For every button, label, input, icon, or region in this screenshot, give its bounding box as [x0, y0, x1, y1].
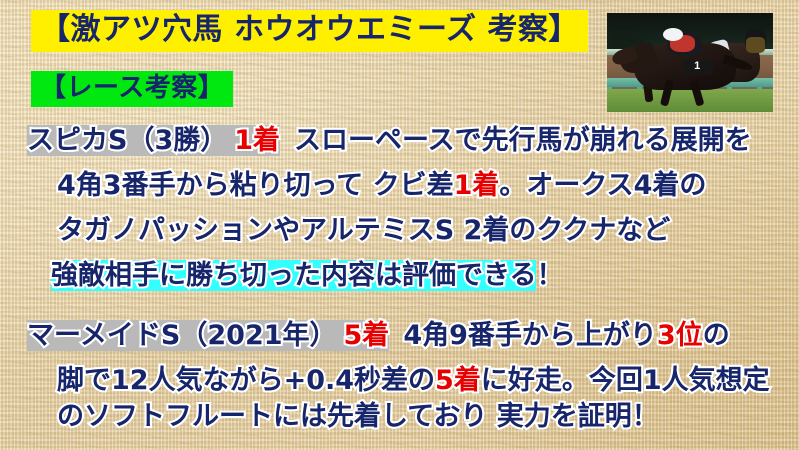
p2-line1-rank: 3位 — [657, 320, 703, 351]
p1-line2-a: 4角3番手から粘り切って クビ差 — [57, 170, 454, 201]
p1-line-2: 4角3番手から粘り切って クビ差1着。オークス4着の — [57, 172, 706, 199]
p1-line3-text: タガノパッションやアルテミスS 2着のククナなど — [57, 215, 670, 246]
p1-race-label: スピカS（3勝） — [27, 125, 227, 156]
photo-turf — [607, 89, 773, 112]
photo-saddle-cloth — [683, 60, 713, 76]
p2-race-label: マーメイドS（2021年） — [27, 320, 337, 351]
horse-racing-photo — [607, 13, 773, 112]
p1-conclusion-tail: ！ — [536, 260, 563, 291]
p2-line2-b: に好走。今回1人気想定 — [481, 365, 770, 396]
p2-race-label-chip: マーメイドS（2021年）5着 — [27, 320, 389, 351]
p2-line3-text: のソフトフルートには先着しており 実力を証明！ — [57, 401, 659, 432]
section-subtitle: 【レース考察】 — [31, 71, 233, 107]
p1-line-3: タガノパッションやアルテミスS 2着のククナなど — [57, 217, 670, 244]
p1-line-1: スピカS（3勝）1着スローペースで先行馬が崩れる展開を — [27, 127, 752, 154]
p2-line-3: のソフトフルートには先着しており 実力を証明！ — [57, 403, 659, 430]
p2-line2-a: 脚で12人気ながら+0.4秒差の — [57, 365, 435, 396]
photo-jockey-lead-helmet — [663, 28, 683, 41]
photo-jockey-second-silk — [746, 37, 764, 53]
p1-line1-rest: スローペースで先行馬が崩れる展開を — [294, 125, 752, 156]
p1-line2-b: 。オークス4着の — [499, 170, 706, 201]
p1-line2-result: 1着 — [454, 170, 500, 201]
p2-line1-rest-a: 4角9番手から上がり — [403, 320, 657, 351]
p1-race-result: 1着 — [234, 125, 280, 156]
p1-race-label-chip: スピカS（3勝）1着 — [27, 125, 280, 156]
p2-line1-rest-b: の — [703, 320, 730, 351]
p2-line-2: 脚で12人気ながら+0.4秒差の5着に好走。今回1人気想定 — [57, 367, 770, 394]
p1-line-4: 強敵相手に勝ち切った内容は評価できる！ — [51, 262, 563, 289]
p2-line2-result: 5着 — [435, 365, 481, 396]
page-title: 【激アツ穴馬 ホウオウエミーズ 考察】 — [31, 10, 588, 52]
p2-line-1: マーメイドS（2021年）5着4角9番手から上がり3位の — [27, 322, 730, 349]
p1-conclusion-highlight: 強敵相手に勝ち切った内容は評価できる — [51, 260, 536, 291]
p2-race-result: 5着 — [344, 320, 390, 351]
